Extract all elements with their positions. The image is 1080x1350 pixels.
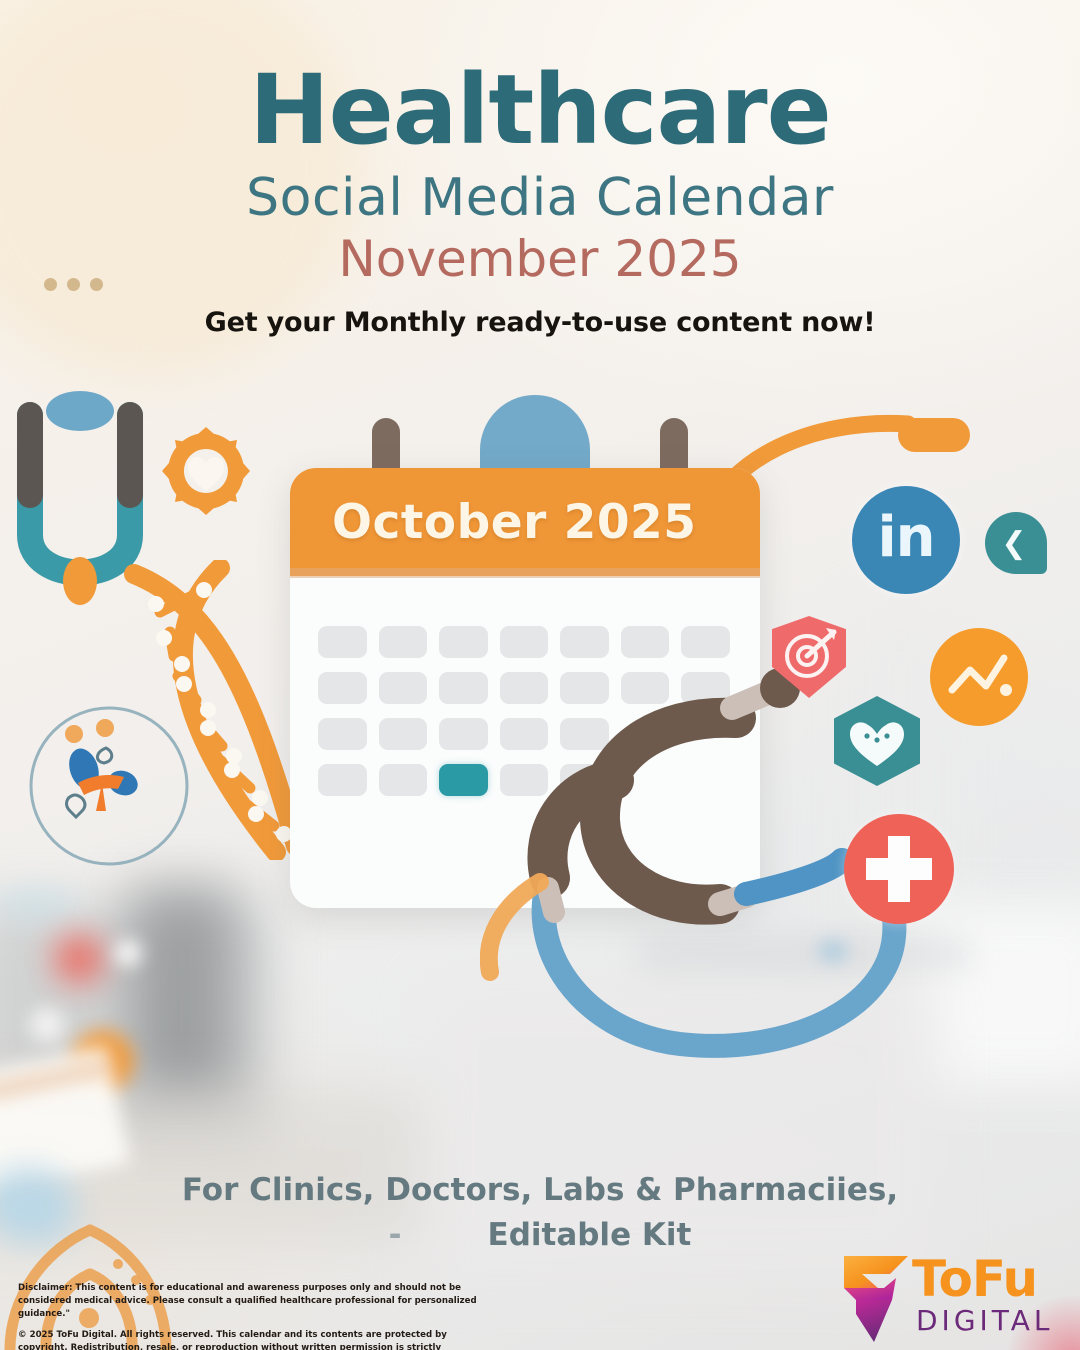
- background-white-dot-2: [30, 1008, 64, 1042]
- calendar-month-title: October 2025: [290, 495, 696, 550]
- calendar-header-shadow: [290, 568, 760, 578]
- copyright-text: © 2025 ToFu Digital. All rights reserved…: [18, 1329, 488, 1350]
- background-white-dot-1: [115, 940, 141, 966]
- calendar-day-cell[interactable]: [379, 718, 428, 750]
- medical-cross-icon[interactable]: [844, 814, 954, 924]
- chat-bubble-chevron-icon[interactable]: ❮: [985, 512, 1047, 574]
- calendar-day-cell[interactable]: [318, 626, 367, 658]
- background-red-equipment: [55, 935, 103, 983]
- gear-heart-icon: [160, 425, 252, 517]
- chevron-left-glyph: ❮: [985, 512, 1047, 574]
- calendar-header: October 2025: [290, 468, 760, 576]
- tofu-ribbon-mark-icon: [838, 1252, 912, 1344]
- calendar-day-cell[interactable]: [318, 672, 367, 704]
- page-cta-text: Get your Monthly ready-to-use content no…: [0, 307, 1080, 338]
- small-blue-accent: [818, 940, 848, 962]
- headline-block: Healthcare Social Media Calendar Novembe…: [0, 60, 1080, 338]
- disclaimer-text: Disclaimer: This content is for educatio…: [18, 1282, 488, 1321]
- linkedin-glyph: in: [852, 486, 960, 594]
- page-month-label: November 2025: [0, 231, 1080, 289]
- background-paper-accent: [0, 1059, 110, 1102]
- calendar-day-cell[interactable]: [318, 718, 367, 750]
- tofu-digital-logo[interactable]: ToFu DIGITAL: [838, 1252, 1070, 1344]
- wellness-badge-icon: [26, 703, 192, 869]
- calendar-day-cell[interactable]: [439, 626, 488, 658]
- calendar-day-cell[interactable]: [379, 626, 428, 658]
- logo-name: ToFu: [912, 1254, 1072, 1304]
- logo-wordmark: ToFu DIGITAL: [912, 1254, 1072, 1337]
- calendar-day-cell[interactable]: [379, 764, 428, 796]
- calendar-day-cell[interactable]: [318, 764, 367, 796]
- background-cabinet-dark: [130, 885, 235, 1100]
- cross-horizontal-bar: [866, 858, 932, 880]
- background-orange-dot: [72, 1030, 134, 1092]
- background-cabinet: [0, 905, 270, 1145]
- page-subtitle: Social Media Calendar: [0, 167, 1080, 229]
- growth-chart-icon[interactable]: [930, 628, 1028, 726]
- logo-tagline: DIGITAL: [912, 1306, 1072, 1337]
- page-title: Healthcare: [0, 60, 1080, 161]
- tagline-line-2: Editable Kit: [488, 1217, 692, 1253]
- poster-canvas: October 2025 in ❮: [0, 0, 1080, 1350]
- calendar-day-cell[interactable]: [681, 626, 730, 658]
- legal-footer: Disclaimer: This content is for educatio…: [18, 1282, 488, 1350]
- binder-ring-left: [372, 418, 400, 474]
- tagline-line-1: For Clinics, Doctors, Labs & Pharmaciies…: [182, 1172, 898, 1208]
- orange-pill-shape: [898, 418, 970, 452]
- calendar-day-cell[interactable]: [500, 626, 549, 658]
- tagline-dash: -: [389, 1217, 488, 1253]
- calendar-day-cell[interactable]: [621, 626, 670, 658]
- background-teal-strip: [0, 895, 70, 913]
- calendar-day-cell[interactable]: [379, 672, 428, 704]
- line-chart-glyph: [930, 628, 1028, 726]
- linkedin-icon[interactable]: in: [852, 486, 960, 594]
- footer-tagline: For Clinics, Doctors, Labs & Pharmaciies…: [0, 1168, 1080, 1258]
- binder-ring-right: [660, 418, 688, 474]
- calendar-day-cell[interactable]: [560, 626, 609, 658]
